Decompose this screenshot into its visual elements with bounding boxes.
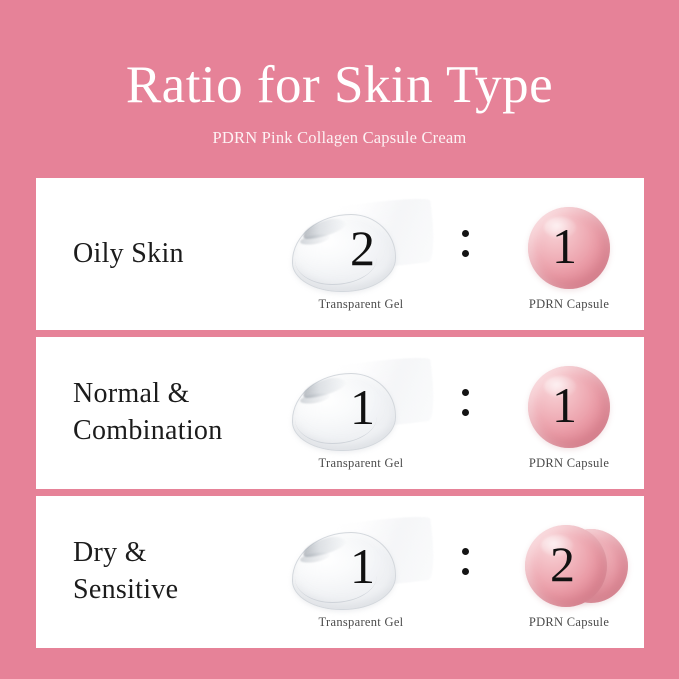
capsule-amount: 1 (552, 221, 577, 271)
capsule-item: 2 PDRN Capsule (494, 496, 644, 648)
ratio-card-list: Oily Skin 2 Transparent Gel (36, 178, 644, 648)
gel-item: 1 Transparent Gel (286, 496, 436, 648)
ratio-card-oily-skin: Oily Skin 2 Transparent Gel (36, 178, 644, 330)
capsule-label: PDRN Capsule (529, 615, 609, 630)
ratio-separator-icon (436, 178, 494, 330)
capsule-amount: 1 (552, 380, 577, 430)
gel-visual: 1 (286, 356, 436, 460)
skin-type-label: Normal & Combination (36, 376, 286, 450)
ratio-display: 1 Transparent Gel 1 PDRN Capsule (286, 337, 644, 489)
gel-label: Transparent Gel (319, 297, 404, 312)
capsule-amount: 2 (550, 539, 575, 589)
ratio-separator-icon (436, 496, 494, 648)
skin-type-label: Dry & Sensitive (36, 535, 286, 609)
ratio-card-dry-sensitive: Dry & Sensitive 1 Tran (36, 496, 644, 648)
capsule-visual: 1 (494, 197, 644, 301)
capsule-visual: 2 (494, 515, 644, 619)
gel-amount: 1 (350, 382, 375, 432)
gel-visual: 2 (286, 197, 436, 301)
capsule-item: 1 PDRN Capsule (494, 178, 644, 330)
capsule-label: PDRN Capsule (529, 456, 609, 471)
skin-type-label-line2: Sensitive (73, 572, 286, 609)
capsule-item: 1 PDRN Capsule (494, 337, 644, 489)
gel-amount: 1 (350, 541, 375, 591)
gel-visual: 1 (286, 515, 436, 619)
gel-item: 2 Transparent Gel (286, 178, 436, 330)
gel-label: Transparent Gel (319, 615, 404, 630)
page-subtitle: PDRN Pink Collagen Capsule Cream (213, 128, 467, 148)
ratio-display: 1 Transparent Gel 2 (286, 496, 644, 648)
gel-item: 1 Transparent Gel (286, 337, 436, 489)
skin-type-label: Oily Skin (36, 236, 286, 273)
capsule-label: PDRN Capsule (529, 297, 609, 312)
gel-label: Transparent Gel (319, 456, 404, 471)
skin-type-label-line1: Dry & (73, 535, 286, 572)
ratio-separator-icon (436, 337, 494, 489)
skin-type-label-line2: Combination (73, 413, 286, 450)
page-title: Ratio for Skin Type (126, 58, 553, 114)
gel-amount: 2 (350, 223, 375, 273)
skin-type-label-line1: Normal & (73, 376, 286, 413)
ratio-display: 2 Transparent Gel 1 PDRN Capsule (286, 178, 644, 330)
infographic-page: Ratio for Skin Type PDRN Pink Collagen C… (0, 0, 679, 679)
capsule-visual: 1 (494, 356, 644, 460)
ratio-card-normal-combination: Normal & Combination 1 (36, 337, 644, 489)
header: Ratio for Skin Type PDRN Pink Collagen C… (0, 0, 679, 178)
